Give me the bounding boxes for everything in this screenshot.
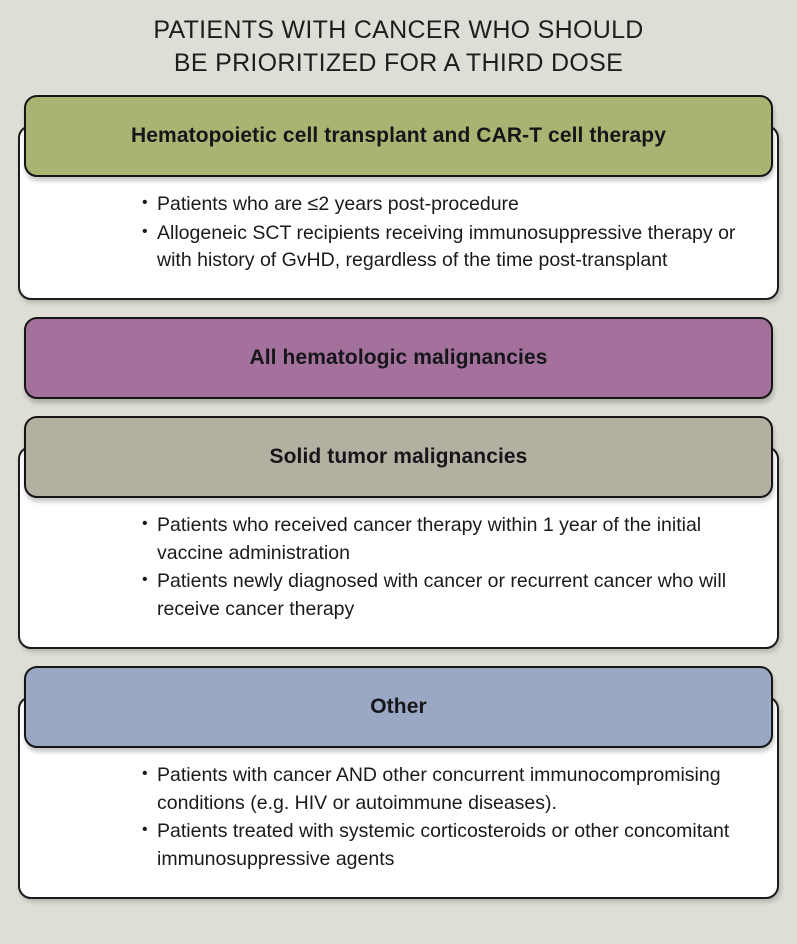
section-solid-tumor: Solid tumor malignancies Patients who re… xyxy=(18,416,779,649)
page-title: PATIENTS WITH CANCER WHO SHOULD BE PRIOR… xyxy=(18,0,779,79)
list-item: Allogeneic SCT recipients receiving immu… xyxy=(142,220,751,275)
section-header-label: Solid tumor malignancies xyxy=(256,445,542,469)
page-title-line-2: BE PRIORITIZED FOR A THIRD DOSE xyxy=(18,47,779,80)
list-item: Patients newly diagnosed with cancer or … xyxy=(142,568,751,623)
section-header-other: Other xyxy=(24,666,773,748)
section-header-heme-malignancies: All hematologic malignancies xyxy=(24,317,773,399)
section-header-hct-cart: Hematopoietic cell transplant and CAR-T … xyxy=(24,95,773,177)
page-title-line-1: PATIENTS WITH CANCER WHO SHOULD xyxy=(18,14,779,47)
section-other: Other Patients with cancer AND other con… xyxy=(18,666,779,899)
section-header-label: Hematopoietic cell transplant and CAR-T … xyxy=(117,124,680,148)
list-item: Patients who received cancer therapy wit… xyxy=(142,512,751,567)
bullet-list: Patients with cancer AND other concurren… xyxy=(46,762,751,874)
section-list: Hematopoietic cell transplant and CAR-T … xyxy=(18,95,779,899)
list-item: Patients treated with systemic corticost… xyxy=(142,818,751,873)
list-item: Patients with cancer AND other concurren… xyxy=(142,762,751,817)
section-header-label: Other xyxy=(356,695,441,719)
section-header-label: All hematologic malignancies xyxy=(235,346,561,370)
infographic-page: PATIENTS WITH CANCER WHO SHOULD BE PRIOR… xyxy=(0,0,797,944)
bullet-list: Patients who received cancer therapy wit… xyxy=(46,512,751,624)
section-header-solid-tumor: Solid tumor malignancies xyxy=(24,416,773,498)
section-hct-cart: Hematopoietic cell transplant and CAR-T … xyxy=(18,95,779,300)
bullet-list: Patients who are ≤2 years post-procedure… xyxy=(46,191,751,275)
section-heme-malignancies: All hematologic malignancies xyxy=(18,317,779,399)
list-item: Patients who are ≤2 years post-procedure xyxy=(142,191,751,219)
